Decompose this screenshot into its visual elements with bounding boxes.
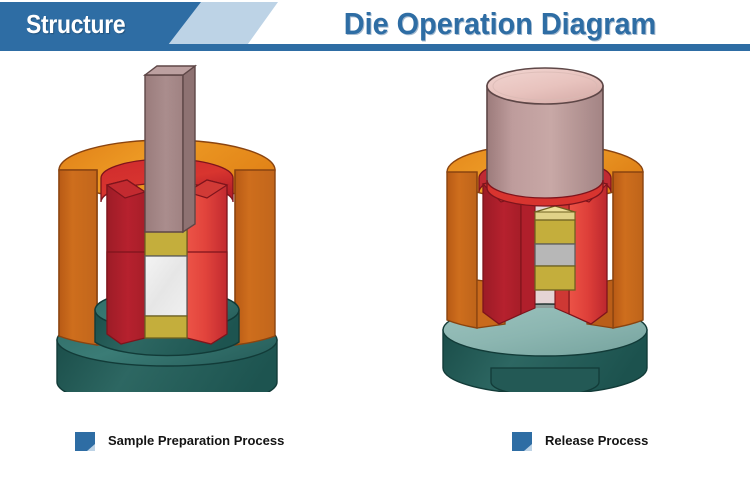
die-assembly-release — [443, 68, 647, 392]
figure-release-die — [405, 52, 745, 392]
die-assembly-sample-prep — [57, 66, 277, 392]
page-title: Die Operation Diagram — [295, 5, 704, 43]
header-underline-bar — [0, 44, 750, 51]
slide-page: Structure Die Operation Diagram — [0, 0, 750, 483]
legend-label-sample-preparation: Sample Preparation Process — [108, 430, 284, 452]
header-banner: Structure Die Operation Diagram — [0, 0, 750, 52]
punch-cylinder — [487, 68, 603, 202]
legend-label-release: Release Process — [545, 430, 648, 452]
pellet-stack — [535, 206, 575, 290]
diagram-stage: Sample Preparation Process Release Proce… — [0, 52, 750, 483]
sample-stack — [145, 230, 187, 338]
header-tag-label: Structure — [26, 8, 158, 40]
punch-rod — [145, 66, 195, 232]
figure-sample-preparation-die — [35, 52, 375, 392]
